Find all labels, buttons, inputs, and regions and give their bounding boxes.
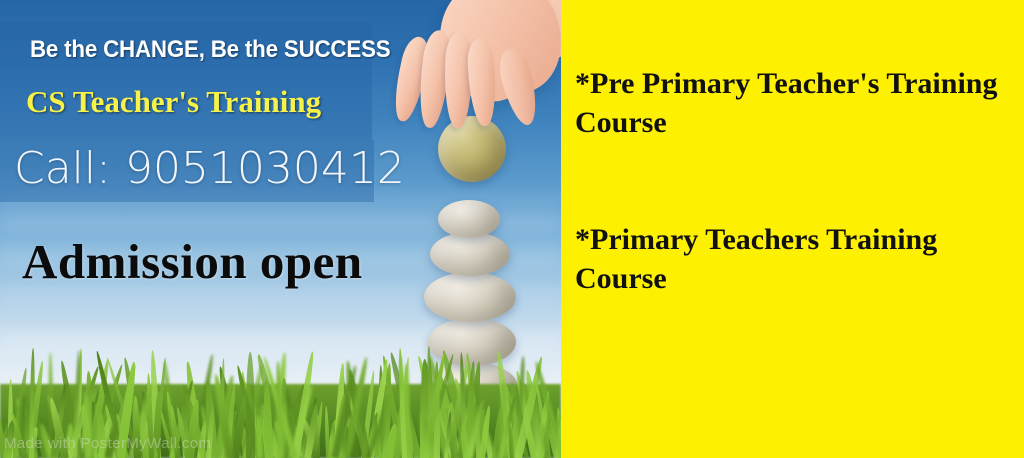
grass-blade — [245, 352, 254, 458]
courses-panel: *Pre Primary Teacher's Training Course *… — [561, 0, 1024, 458]
phone-call-line[interactable]: Call: 9051030412 — [14, 143, 405, 194]
headline-text: Be the CHANGE, Be the SUCCESS — [30, 36, 351, 64]
stone-icon — [430, 232, 510, 276]
course-list-item: *Primary Teachers Training Course — [575, 220, 1015, 298]
stone-icon — [438, 200, 500, 238]
hand-holding-stone-icon — [388, 0, 561, 188]
course-list-item: *Pre Primary Teacher's Training Course — [575, 64, 1015, 142]
course-brand-title: CS Teacher's Training — [26, 84, 321, 120]
photo-panel: Be the CHANGE, Be the SUCCESS CS Teacher… — [0, 0, 561, 458]
grass-icon — [0, 340, 561, 458]
stone-icon — [424, 272, 516, 322]
admission-open-text: Admission open — [22, 233, 363, 290]
poster-banner: Be the CHANGE, Be the SUCCESS CS Teacher… — [0, 0, 1024, 458]
